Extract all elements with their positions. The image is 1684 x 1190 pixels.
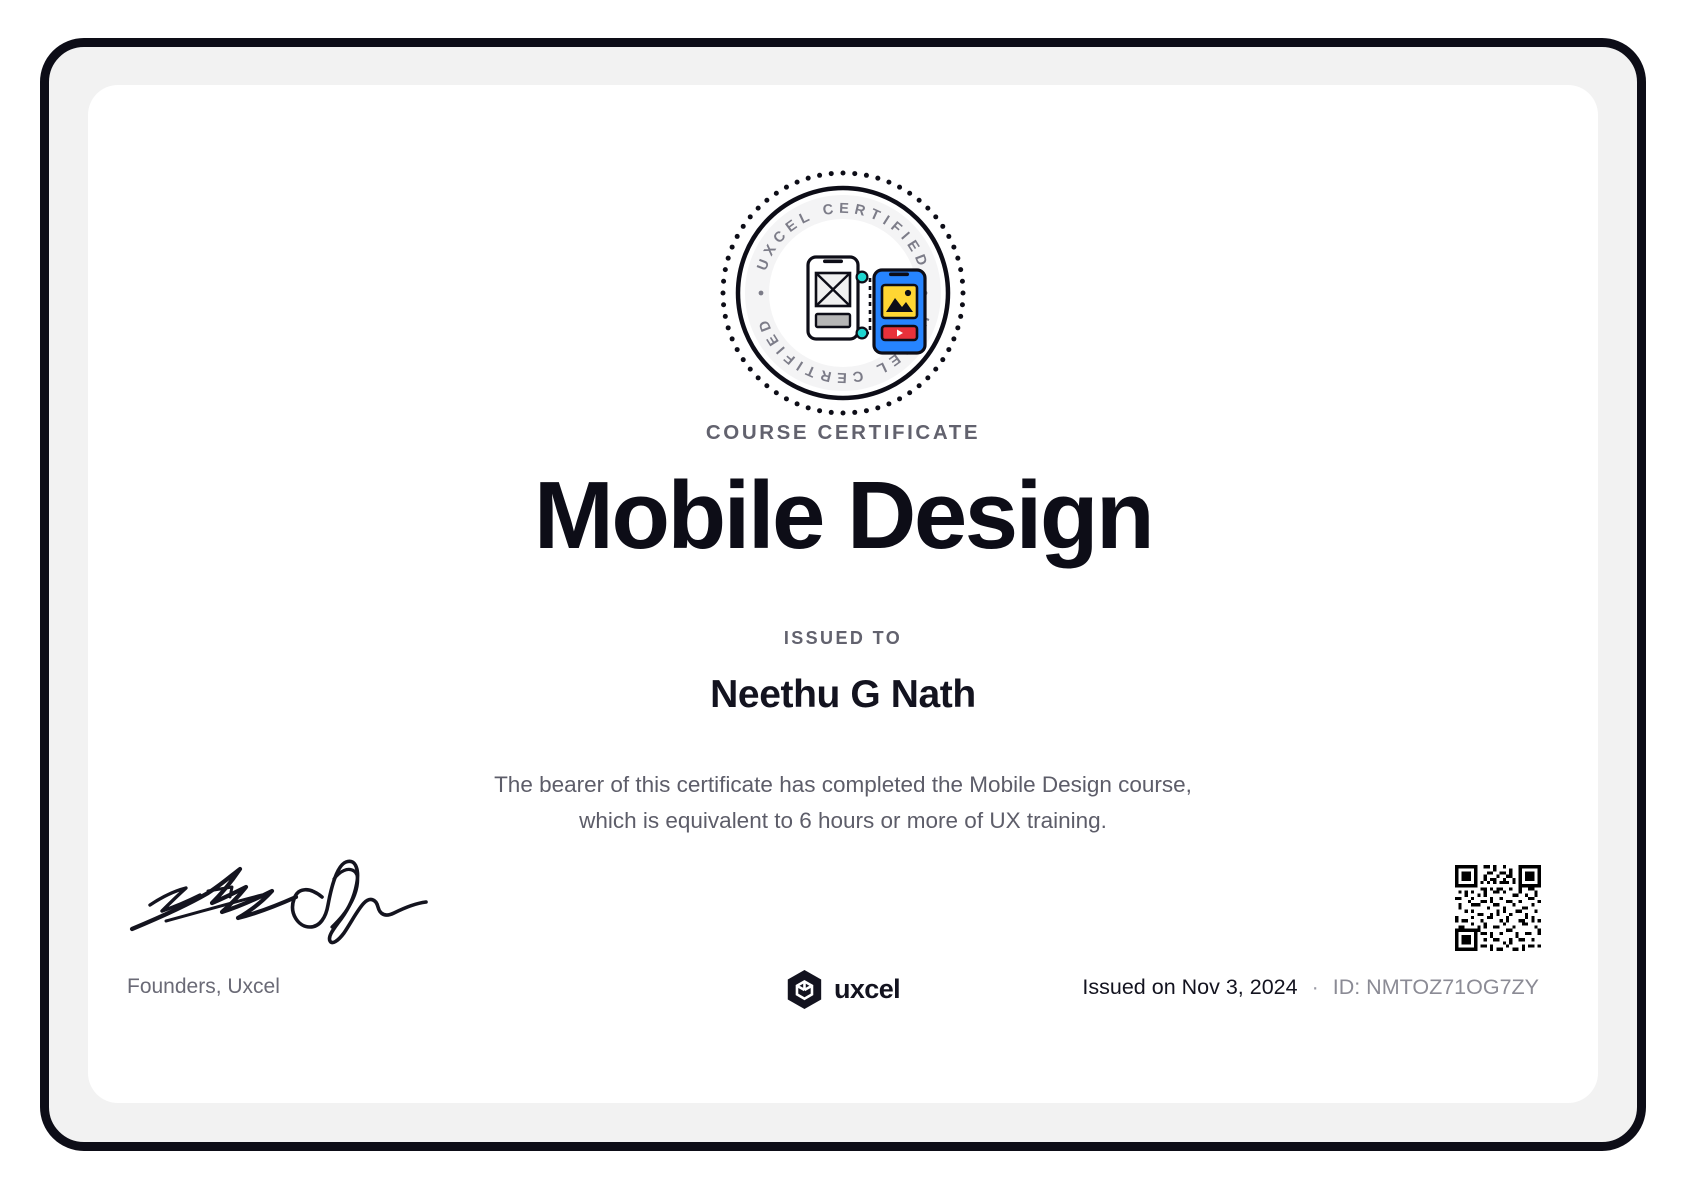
certificate-id: ID: NMTOZ71OG7ZY xyxy=(1333,975,1539,999)
certificate-card: UXCEL CERTIFIED UXCEL CERTIFIED xyxy=(88,85,1598,1103)
uxcel-cube-logo-icon xyxy=(786,969,823,1010)
signature-icon xyxy=(132,869,296,929)
certificate-frame: UXCEL CERTIFIED UXCEL CERTIFIED xyxy=(40,38,1646,1151)
founders-label: Founders, Uxcel xyxy=(127,975,280,999)
design-phone-icon xyxy=(874,270,925,353)
issued-to-label: ISSUED TO xyxy=(88,628,1598,649)
description-line-2: which is equivalent to 6 hours or more o… xyxy=(88,803,1598,839)
course-certificate-eyebrow: COURSE CERTIFICATE xyxy=(88,421,1598,445)
page-title: Mobile Design xyxy=(88,461,1598,571)
brand-logo: uxcel xyxy=(786,969,900,1010)
certificate-meta: Issued on Nov 3, 2024 · ID: NMTOZ71OG7ZY xyxy=(1082,975,1539,1000)
recipient-name: Neethu G Nath xyxy=(88,673,1598,717)
qr-code-icon[interactable] xyxy=(1452,862,1544,954)
description-line-1: The bearer of this certificate has compl… xyxy=(88,767,1598,803)
brand-name: uxcel xyxy=(834,974,900,1005)
signatures-group xyxy=(126,857,446,953)
issued-on-date: Issued on Nov 3, 2024 xyxy=(1082,975,1297,999)
seal-bullet xyxy=(759,291,764,296)
certificate-description: The bearer of this certificate has compl… xyxy=(88,767,1598,840)
wireframe-phone-icon xyxy=(808,257,858,339)
signature-icon xyxy=(293,861,426,942)
certification-seal-icon: UXCEL CERTIFIED UXCEL CERTIFIED xyxy=(715,165,971,421)
meta-separator: · xyxy=(1304,975,1327,999)
